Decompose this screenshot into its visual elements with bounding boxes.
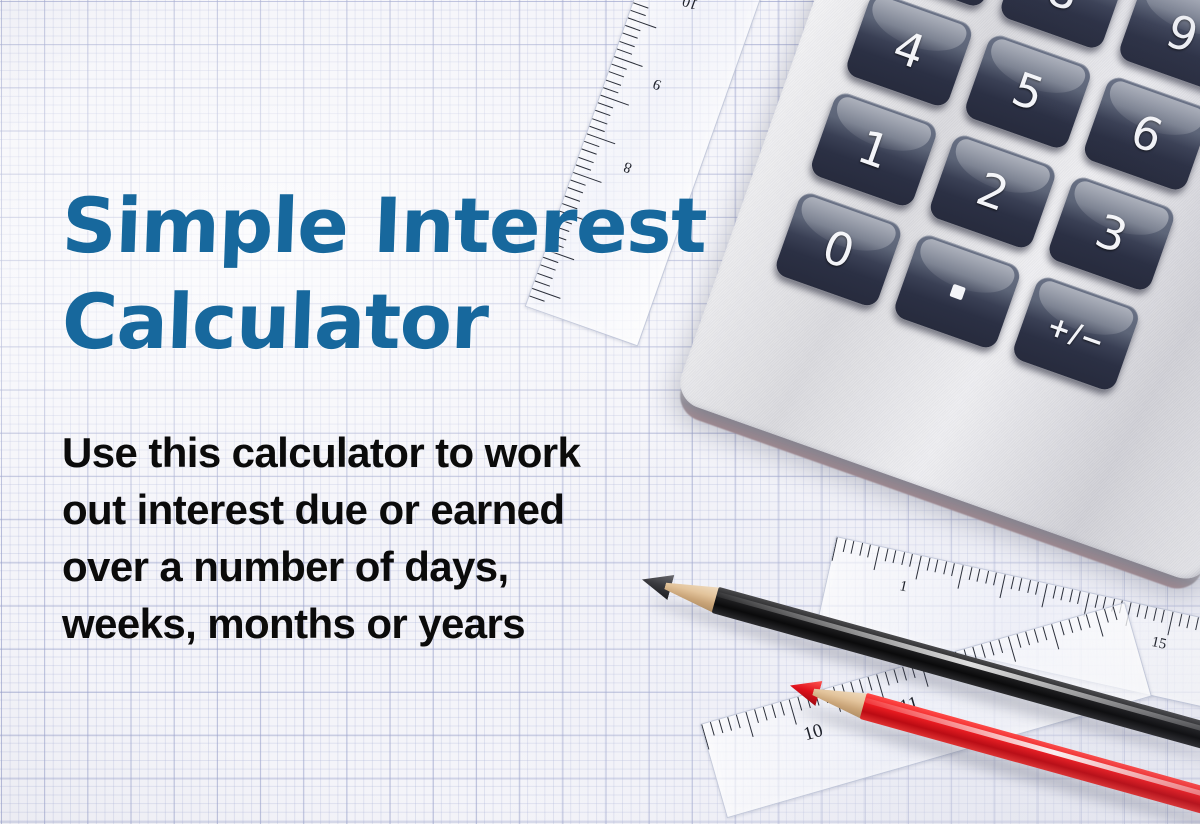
description-line-4: weeks, months or years <box>62 595 702 652</box>
ruler-tick <box>999 574 1005 598</box>
ruler-tick <box>630 10 645 16</box>
ruler-tick <box>625 25 640 31</box>
ruler-tick <box>780 702 785 716</box>
calc-key-0[interactable]: 0 <box>773 190 904 309</box>
ruler-tick <box>926 558 930 571</box>
ruler-tick <box>1069 589 1073 602</box>
ruler-tick <box>1095 612 1103 637</box>
calc-key-5[interactable]: 5 <box>963 32 1094 151</box>
calc-key-label: 1 <box>851 119 897 180</box>
ruler-tick <box>1035 582 1039 595</box>
ruler-tick <box>993 573 997 586</box>
ruler-tick <box>745 712 753 737</box>
ruler-tick <box>576 164 591 170</box>
calc-key-label: 0 <box>816 219 862 280</box>
ruler-tick <box>584 141 599 147</box>
calc-key-4[interactable]: 4 <box>844 0 975 109</box>
ruler-tick <box>620 41 635 47</box>
ruler-tick <box>868 545 872 558</box>
ruler-tick <box>1104 609 1109 623</box>
ruler-tick <box>867 677 872 691</box>
ruler-tick <box>1034 629 1039 643</box>
description-line-2: out interest due or earned <box>62 481 702 538</box>
calc-key-label: 8 <box>1041 0 1087 22</box>
calc-key-label: 5 <box>1005 61 1051 122</box>
calc-key-label: 9 <box>1159 3 1200 64</box>
calc-key-3[interactable]: 3 <box>1046 174 1177 293</box>
ruler-tick <box>754 709 759 723</box>
ruler-tick <box>598 102 613 108</box>
ruler-tick <box>985 571 989 584</box>
ruler-tick <box>595 110 610 116</box>
ruler-tick <box>1136 604 1140 617</box>
ruler-tick <box>859 543 863 556</box>
ruler-tick <box>609 71 624 77</box>
ruler-tick <box>1010 576 1014 589</box>
ruler-tick <box>592 118 607 124</box>
ruler-tick <box>968 567 972 580</box>
ruler-tick <box>578 157 593 163</box>
ruler-tick <box>999 639 1004 653</box>
ruler-tick <box>958 565 964 589</box>
ruler-tick <box>981 644 986 658</box>
ruler-tick <box>893 550 897 563</box>
calculator-keypad[interactable]: MRCM−M+7894561230+/− <box>767 0 1200 449</box>
ruler-tick <box>789 699 797 724</box>
ruler-tick <box>606 79 621 85</box>
calc-key-6[interactable]: 6 <box>1081 74 1200 193</box>
decimal-point-mark <box>949 283 966 300</box>
ruler-tick <box>884 548 888 561</box>
ruler-tick <box>1112 607 1117 621</box>
calc-key-9[interactable]: 9 <box>1117 0 1200 93</box>
ruler-tick <box>1051 624 1059 649</box>
calc-key-label: 4 <box>887 19 933 80</box>
calc-key-2[interactable]: 2 <box>927 132 1058 251</box>
description-line-1: Use this calculator to work <box>62 424 702 481</box>
ruler-tick <box>771 704 776 718</box>
ruler-tick <box>581 149 596 155</box>
ruler-tick <box>1019 578 1023 591</box>
ruler-tick <box>874 546 880 570</box>
calc-key-decimal[interactable] <box>892 232 1023 351</box>
ruler-tick <box>951 563 955 576</box>
title-line-2: Calculator <box>60 274 703 370</box>
ruler-tick <box>1178 614 1182 627</box>
calc-key-label: 2 <box>970 161 1016 222</box>
ruler-tick <box>589 126 604 132</box>
ruler-tick <box>1077 617 1082 631</box>
ruler-tick <box>842 539 846 552</box>
ruler-tick <box>943 561 947 574</box>
title-line-1: Simple Interest <box>60 178 703 274</box>
ruler-tick <box>910 554 914 567</box>
ruler-tick <box>1052 586 1056 599</box>
ruler-tick <box>916 556 922 580</box>
ruler-tick <box>762 707 767 721</box>
calc-key-1[interactable]: 1 <box>808 90 939 209</box>
calc-key-label: +/− <box>1043 308 1109 359</box>
ruler-tick <box>990 642 995 656</box>
ruler-tick <box>617 48 632 54</box>
ruler-tick <box>1094 595 1098 608</box>
ruler-tick <box>1145 606 1149 619</box>
description-line-3: over a number of days, <box>62 538 702 595</box>
ruler-tick <box>719 719 724 733</box>
calc-key-plus-minus[interactable]: +/− <box>1011 274 1142 393</box>
calc-key-label: 3 <box>1089 203 1135 264</box>
ruler-tick <box>1187 615 1191 628</box>
ruler-tick <box>1153 608 1157 621</box>
ruler-tick <box>851 541 855 554</box>
ruler-tick <box>1167 612 1173 636</box>
ruler-tick <box>1042 627 1047 641</box>
ruler-tick <box>633 2 648 8</box>
page-title: Simple Interest Calculator <box>62 178 702 370</box>
ruler-tick <box>1027 580 1031 593</box>
ruler-tick <box>1069 619 1074 633</box>
calc-key-label: 6 <box>1124 103 1170 164</box>
ruler-tick <box>1007 637 1015 662</box>
ruler-tick <box>1086 614 1091 628</box>
ruler-tick <box>1025 632 1030 646</box>
ruler-tick <box>622 33 637 39</box>
ruler-tick <box>710 722 715 736</box>
ruler-tick <box>977 569 981 582</box>
ruler-tick <box>736 714 741 728</box>
banner-image: 111098 115 1011 MRCM−M+7894561230+/− Sim… <box>0 0 1200 824</box>
ruler-tick <box>611 64 626 70</box>
ruler-tick <box>901 552 905 565</box>
ruler-tick <box>935 560 939 573</box>
ruler-tick <box>1195 617 1199 630</box>
ruler-tick <box>727 717 732 731</box>
ruler-tick <box>1060 622 1065 636</box>
ruler-tick <box>603 87 618 93</box>
ruler-tick <box>1041 584 1047 608</box>
page-description: Use this calculator to work out interest… <box>62 424 702 652</box>
ruler-tick <box>1077 591 1081 604</box>
ruler-tick <box>1016 634 1021 648</box>
ruler-tick <box>1161 610 1165 623</box>
ruler-tick <box>1061 587 1065 600</box>
